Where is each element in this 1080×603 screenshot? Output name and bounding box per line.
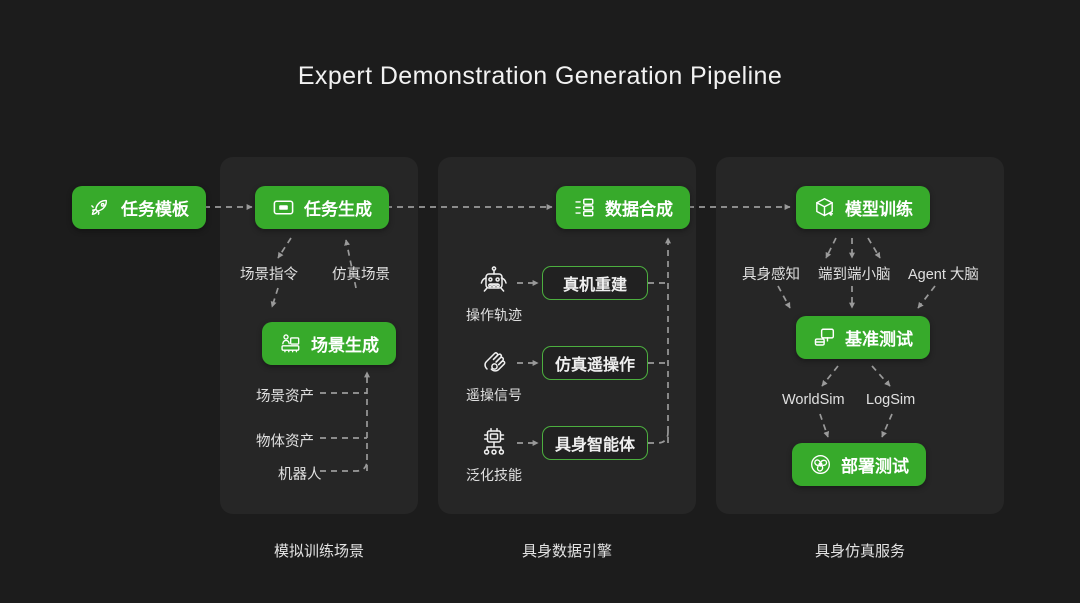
badge-deployment-test[interactable]: 部署测试 — [792, 443, 926, 486]
label-scene-assets: 场景资产 — [256, 385, 314, 406]
pipeline-diagram: Expert Demonstration Generation Pipeline… — [0, 0, 1080, 603]
badge-data-synthesis[interactable]: 数据合成 — [556, 186, 690, 229]
label-sim-scene: 仿真场景 — [332, 263, 390, 284]
badge-label: 任务生成 — [304, 195, 372, 220]
label-end-to-end-cerebellum: 端到端小脑 — [818, 263, 891, 284]
fan-circle-icon — [809, 453, 832, 476]
badge-label: 场景生成 — [311, 331, 379, 356]
label-teleop-signal: 遥操信号 — [466, 385, 522, 405]
label-worldsim: WorldSim — [782, 392, 845, 408]
pl-box-icon — [272, 196, 295, 219]
badge-label: 部署测试 — [841, 452, 909, 477]
scene-build-icon — [279, 332, 302, 355]
box-simulated-teleoperation[interactable]: 仿真遥操作 — [542, 346, 648, 380]
badge-label: 模型训练 — [845, 195, 913, 220]
badge-task-template[interactable]: 任务模板 — [72, 186, 206, 229]
badge-benchmark-test[interactable]: 基准测试 — [796, 316, 930, 359]
label-agent-brain: Agent 大脑 — [908, 263, 979, 284]
robot-icon — [474, 262, 514, 302]
badge-label: 任务模板 — [121, 195, 189, 220]
label-scene-instruction: 场景指令 — [240, 263, 298, 284]
panel-caption-3: 具身仿真服务 — [716, 540, 1004, 561]
label-embodied-perception: 具身感知 — [742, 263, 800, 284]
label-operation-trajectory: 操作轨迹 — [466, 305, 522, 325]
badge-label: 数据合成 — [605, 195, 673, 220]
label-robot: 机器人 — [278, 463, 322, 484]
badge-task-generation[interactable]: 任务生成 — [255, 186, 389, 229]
label-object-assets: 物体资产 — [256, 430, 314, 451]
panel-caption-2: 具身数据引擎 — [438, 540, 696, 561]
badge-model-training[interactable]: 模型训练 — [796, 186, 930, 229]
rocket-icon — [89, 196, 112, 219]
box-real-machine-reconstruction[interactable]: 真机重建 — [542, 266, 648, 300]
cube-icon — [813, 196, 836, 219]
glove-icon — [474, 342, 514, 382]
badge-label: 基准测试 — [845, 325, 913, 350]
monitor-icon — [813, 326, 836, 349]
panel-caption-1: 模拟训练场景 — [220, 540, 418, 561]
badge-scene-generation[interactable]: 场景生成 — [262, 322, 396, 365]
page-title: Expert Demonstration Generation Pipeline — [0, 62, 1080, 91]
data-sync-icon — [573, 196, 596, 219]
chip-icon — [474, 422, 514, 462]
label-generalization-skills: 泛化技能 — [466, 465, 522, 485]
label-logsim: LogSim — [866, 392, 915, 408]
box-embodied-agent[interactable]: 具身智能体 — [542, 426, 648, 460]
